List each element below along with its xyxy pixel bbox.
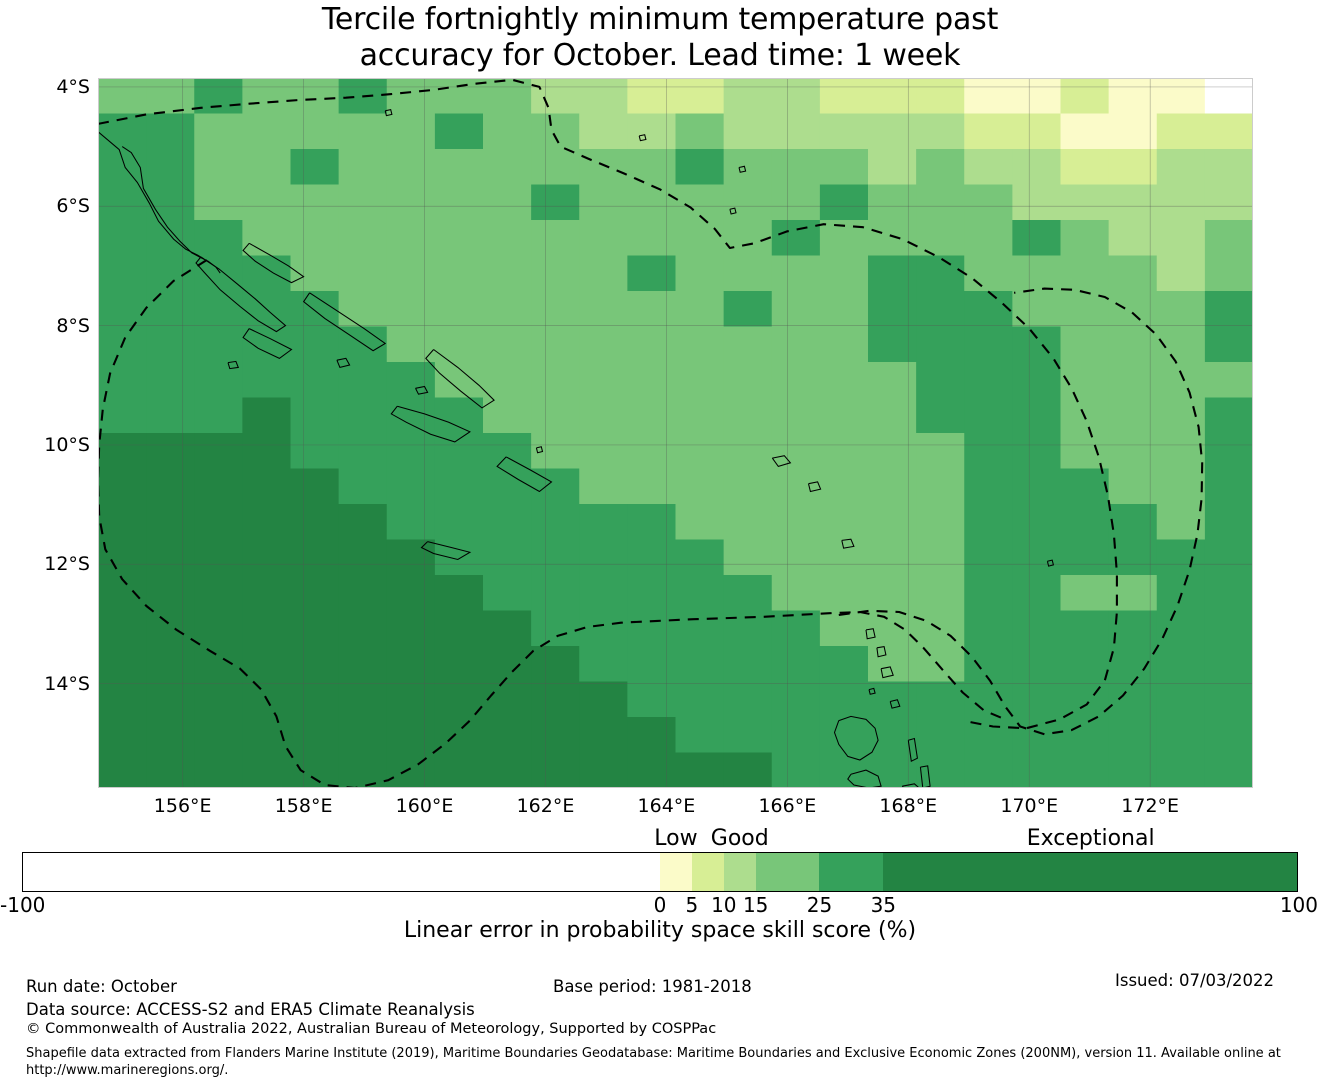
heatmap-cell xyxy=(435,185,484,221)
heatmap-cell xyxy=(868,753,917,789)
heatmap-cell xyxy=(146,646,195,682)
heatmap-cell xyxy=(1157,433,1206,469)
heatmap-cell xyxy=(146,504,195,540)
heatmap-cell xyxy=(916,114,965,150)
title-line-1: Tercile fortnightly minimum temperature … xyxy=(0,2,1320,38)
heatmap-cell xyxy=(579,78,628,114)
heatmap-cell xyxy=(772,327,821,363)
heatmap-cell xyxy=(435,611,484,647)
heatmap-cell xyxy=(579,185,628,221)
heatmap-cell xyxy=(435,291,484,327)
heatmap-cell xyxy=(242,540,291,576)
heatmap-cell xyxy=(531,433,580,469)
heatmap-cell xyxy=(435,717,484,753)
heatmap-cell xyxy=(531,327,580,363)
heatmap-cell xyxy=(242,327,291,363)
heatmap-cell xyxy=(676,682,725,718)
heatmap-cell xyxy=(387,149,436,185)
heatmap-cell xyxy=(339,220,388,256)
heatmap-cell xyxy=(98,398,147,434)
heatmap-cell xyxy=(1012,575,1061,611)
heatmap-cell xyxy=(531,220,580,256)
footer-base-period: Base period: 1981-2018 xyxy=(553,977,752,996)
heatmap-cell xyxy=(627,646,676,682)
heatmap-cell xyxy=(676,753,725,789)
heatmap-cell xyxy=(242,433,291,469)
heatmap-cell xyxy=(387,327,436,363)
colorbar-tick-label: 5 xyxy=(686,893,699,917)
heatmap-cell xyxy=(1012,611,1061,647)
heatmap-cell xyxy=(772,611,821,647)
heatmap-cell xyxy=(291,575,340,611)
footer-copyright: © Commonwealth of Australia 2022, Austra… xyxy=(26,1021,716,1037)
heatmap-cell xyxy=(724,291,773,327)
heatmap-cell xyxy=(1061,327,1110,363)
heatmap-cell xyxy=(916,504,965,540)
heatmap-cell xyxy=(676,220,725,256)
heatmap-cell xyxy=(194,114,243,150)
colorbar-segment xyxy=(692,853,724,891)
heatmap-cell xyxy=(1205,717,1253,753)
heatmap-cell xyxy=(242,185,291,221)
heatmap-cell xyxy=(483,327,532,363)
heatmap-cell xyxy=(291,540,340,576)
heatmap-cell xyxy=(291,398,340,434)
heatmap-cell xyxy=(772,362,821,398)
heatmap-cell xyxy=(146,753,195,789)
heatmap-cell xyxy=(339,433,388,469)
heatmap-cell xyxy=(483,185,532,221)
heatmap-cell xyxy=(483,646,532,682)
heatmap-cell xyxy=(820,256,869,292)
heatmap-cell xyxy=(194,256,243,292)
heatmap-cell xyxy=(435,149,484,185)
heatmap-cell xyxy=(146,540,195,576)
heatmap-cell xyxy=(724,540,773,576)
heatmap-cell xyxy=(1157,220,1206,256)
heatmap-cell xyxy=(483,504,532,540)
x-axis-tick-label: 168°E xyxy=(879,795,937,817)
colorbar-title: Linear error in probability space skill … xyxy=(0,918,1320,943)
heatmap-cell xyxy=(194,575,243,611)
heatmap-cell xyxy=(339,611,388,647)
colorbar-segment xyxy=(883,853,1297,891)
heatmap-cell xyxy=(724,256,773,292)
heatmap-cell xyxy=(98,433,147,469)
heatmap-cell xyxy=(387,717,436,753)
heatmap-cell xyxy=(772,149,821,185)
heatmap-cell xyxy=(1012,362,1061,398)
heatmap-cell xyxy=(1205,291,1253,327)
heatmap-cell xyxy=(772,504,821,540)
heatmap-cell xyxy=(868,433,917,469)
heatmap-cell xyxy=(868,398,917,434)
heatmap-cell xyxy=(772,540,821,576)
heatmap-cell xyxy=(676,433,725,469)
heatmap-cell xyxy=(387,220,436,256)
heatmap-cell xyxy=(676,362,725,398)
heatmap-cell xyxy=(820,78,869,114)
heatmap-cell xyxy=(1205,149,1253,185)
heatmap-cell xyxy=(339,717,388,753)
heatmap-cell xyxy=(772,291,821,327)
heatmap-cell xyxy=(964,327,1013,363)
heatmap-cell xyxy=(820,682,869,718)
heatmap-cell xyxy=(194,682,243,718)
heatmap-cell xyxy=(339,646,388,682)
heatmap-cell xyxy=(627,433,676,469)
heatmap-cell xyxy=(820,433,869,469)
heatmap-cell xyxy=(435,256,484,292)
heatmap-cell xyxy=(916,469,965,505)
heatmap-cell xyxy=(916,327,965,363)
heatmap-cell xyxy=(98,256,147,292)
x-axis-tick-label: 172°E xyxy=(1121,795,1179,817)
heatmap-cell xyxy=(483,78,532,114)
heatmap-cell xyxy=(146,327,195,363)
heatmap-cell xyxy=(820,469,869,505)
heatmap-cell xyxy=(387,185,436,221)
heatmap-cell xyxy=(964,291,1013,327)
heatmap-cell xyxy=(1205,256,1253,292)
heatmap-cell xyxy=(579,717,628,753)
heatmap-cell xyxy=(579,469,628,505)
heatmap-cell xyxy=(1205,433,1253,469)
heatmap-cell xyxy=(531,398,580,434)
heatmap-cell xyxy=(531,114,580,150)
colorbar-segment xyxy=(23,853,660,891)
heatmap-cell xyxy=(194,469,243,505)
heatmap-cell xyxy=(483,149,532,185)
heatmap-cell xyxy=(724,78,773,114)
heatmap-cell xyxy=(98,504,147,540)
heatmap-cell xyxy=(146,575,195,611)
heatmap-cell xyxy=(1061,646,1110,682)
heatmap-cell xyxy=(916,717,965,753)
heatmap-cell xyxy=(146,114,195,150)
heatmap-cell xyxy=(579,646,628,682)
heatmap-cell xyxy=(194,433,243,469)
heatmap-cell xyxy=(820,575,869,611)
heatmap-cell xyxy=(435,114,484,150)
heatmap-cell xyxy=(1157,114,1206,150)
colorbar[interactable] xyxy=(22,852,1298,892)
heatmap-cell xyxy=(146,398,195,434)
heatmap-cell xyxy=(964,114,1013,150)
heatmap-cell xyxy=(483,469,532,505)
heatmap-cell xyxy=(627,717,676,753)
heatmap-cell xyxy=(339,575,388,611)
heatmap-cell xyxy=(1061,256,1110,292)
heatmap-cell xyxy=(1012,185,1061,221)
heatmap-cell xyxy=(820,540,869,576)
heatmap-cell xyxy=(1205,575,1253,611)
heatmap-cell xyxy=(676,327,725,363)
y-axis-tick-label: 4°S xyxy=(56,76,90,98)
heatmap-cell xyxy=(194,398,243,434)
heatmap-cell xyxy=(531,149,580,185)
heatmap-cell xyxy=(916,682,965,718)
heatmap-cell xyxy=(1012,327,1061,363)
heatmap-cell xyxy=(676,469,725,505)
heatmap-cell xyxy=(916,185,965,221)
heatmap-cell xyxy=(242,114,291,150)
heatmap-cell xyxy=(676,291,725,327)
heatmap-cell xyxy=(868,469,917,505)
heatmap-cell xyxy=(387,540,436,576)
heatmap-cell xyxy=(339,753,388,789)
heatmap-cell xyxy=(1012,114,1061,150)
heatmap-cell xyxy=(724,469,773,505)
heatmap-cell xyxy=(146,362,195,398)
heatmap-cell xyxy=(964,469,1013,505)
heatmap-cell xyxy=(483,291,532,327)
heatmap-cell xyxy=(627,78,676,114)
footer-issued: Issued: 07/03/2022 xyxy=(1115,971,1274,990)
heatmap-cell xyxy=(291,256,340,292)
heatmap-cell xyxy=(242,504,291,540)
heatmap-cell xyxy=(98,682,147,718)
heatmap-cell xyxy=(98,78,147,114)
heatmap-cell xyxy=(916,291,965,327)
heatmap-cell xyxy=(1205,78,1253,114)
heatmap-cell xyxy=(291,469,340,505)
heatmap-cell xyxy=(146,185,195,221)
heatmap-cell xyxy=(724,220,773,256)
heatmap-cell xyxy=(291,646,340,682)
heatmap-cell xyxy=(1012,504,1061,540)
heatmap-cell xyxy=(339,398,388,434)
heatmap-cell xyxy=(1061,185,1110,221)
heatmap-cell xyxy=(98,291,147,327)
heatmap-cell xyxy=(98,753,147,789)
colorbar-quality-label: Low xyxy=(654,826,697,851)
heatmap-cell xyxy=(194,540,243,576)
x-axis-tick-label: 164°E xyxy=(638,795,696,817)
heatmap-cell xyxy=(1012,469,1061,505)
heatmap-cell xyxy=(483,540,532,576)
heatmap-cell xyxy=(724,433,773,469)
heatmap-cell xyxy=(483,575,532,611)
heatmap-cell xyxy=(1061,149,1110,185)
heatmap-cell xyxy=(627,220,676,256)
heatmap-cell xyxy=(868,291,917,327)
footer-run-date: Run date: October xyxy=(26,977,177,996)
heatmap-cell xyxy=(627,469,676,505)
heatmap-cell xyxy=(1012,291,1061,327)
heatmap-cell xyxy=(1157,682,1206,718)
heatmap-cell xyxy=(579,540,628,576)
heatmap-cell xyxy=(627,575,676,611)
heatmap-cell xyxy=(1012,682,1061,718)
heatmap-cell xyxy=(916,540,965,576)
heatmap-cell xyxy=(291,362,340,398)
heatmap-cell xyxy=(868,540,917,576)
heatmap-cell xyxy=(676,78,725,114)
heatmap-cell xyxy=(772,114,821,150)
heatmap-cell xyxy=(676,540,725,576)
heatmap-cell xyxy=(820,327,869,363)
heatmap-cell xyxy=(579,220,628,256)
heatmap-cell xyxy=(579,256,628,292)
heatmap-cell xyxy=(1012,398,1061,434)
heatmap-cell xyxy=(1012,149,1061,185)
heatmap-cell xyxy=(820,611,869,647)
heatmap-cell xyxy=(868,149,917,185)
heatmap-cell xyxy=(676,398,725,434)
heatmap-cell xyxy=(868,185,917,221)
heatmap-cell xyxy=(676,256,725,292)
x-axis-tick-label: 162°E xyxy=(517,795,575,817)
heatmap-cell xyxy=(916,646,965,682)
heatmap-cell xyxy=(1205,469,1253,505)
x-axis-tick-label: 170°E xyxy=(1000,795,1058,817)
heatmap-cell xyxy=(579,291,628,327)
y-axis-tick-label: 14°S xyxy=(44,673,90,695)
heatmap-svg xyxy=(98,78,1253,788)
heatmap-cell xyxy=(194,717,243,753)
heatmap-cell xyxy=(1061,717,1110,753)
heatmap-cell xyxy=(579,398,628,434)
heatmap-cell xyxy=(724,398,773,434)
heatmap-cell xyxy=(1061,753,1110,789)
heatmap-cell xyxy=(772,433,821,469)
heatmap-cell xyxy=(964,611,1013,647)
heatmap-cell xyxy=(387,611,436,647)
heatmap-cell xyxy=(242,220,291,256)
heatmap-cell xyxy=(387,575,436,611)
heatmap-cell xyxy=(435,469,484,505)
heatmap-cell xyxy=(531,682,580,718)
heatmap-cell xyxy=(98,611,147,647)
heatmap-cell xyxy=(242,717,291,753)
heatmap-cell xyxy=(242,398,291,434)
heatmap-cell xyxy=(435,220,484,256)
heatmap-cell xyxy=(242,646,291,682)
heatmap-cell xyxy=(483,717,532,753)
heatmap-cell xyxy=(194,149,243,185)
heatmap-cell xyxy=(531,753,580,789)
heatmap-cell xyxy=(483,362,532,398)
heatmap-cell xyxy=(291,717,340,753)
heatmap-cell xyxy=(964,682,1013,718)
heatmap-cell xyxy=(1061,362,1110,398)
colorbar-quality-label: Good xyxy=(711,826,769,851)
heatmap-cell xyxy=(1205,398,1253,434)
heatmap-cell xyxy=(579,575,628,611)
heatmap-cell xyxy=(868,611,917,647)
heatmap-cell xyxy=(916,753,965,789)
heatmap-cell xyxy=(868,78,917,114)
heatmap-cell xyxy=(387,646,436,682)
heatmap-cell xyxy=(1157,149,1206,185)
heatmap-cell xyxy=(531,469,580,505)
heatmap-cell xyxy=(1157,256,1206,292)
heatmap-cell xyxy=(772,469,821,505)
heatmap-cell xyxy=(146,682,195,718)
heatmap-cell xyxy=(435,327,484,363)
map-plot-area[interactable] xyxy=(98,78,1253,788)
heatmap-cell xyxy=(724,646,773,682)
y-axis-tick-label: 8°S xyxy=(56,315,90,337)
colorbar-segment xyxy=(756,853,820,891)
colorbar-wrapper[interactable] xyxy=(22,852,1298,892)
heatmap-cell xyxy=(291,78,340,114)
heatmap-cell xyxy=(627,291,676,327)
heatmap-cell xyxy=(579,753,628,789)
heatmap-cell xyxy=(724,504,773,540)
heatmap-cell xyxy=(868,256,917,292)
heatmap-cell xyxy=(483,611,532,647)
heatmap-cells xyxy=(98,78,1253,788)
heatmap-cell xyxy=(627,682,676,718)
heatmap-cell xyxy=(146,256,195,292)
heatmap-cell xyxy=(964,149,1013,185)
colorbar-tick-label: 15 xyxy=(743,893,768,917)
heatmap-cell xyxy=(868,327,917,363)
heatmap-cell xyxy=(868,504,917,540)
heatmap-cell xyxy=(916,149,965,185)
heatmap-cell xyxy=(1061,114,1110,150)
heatmap-cell xyxy=(627,327,676,363)
heatmap-cell xyxy=(1205,362,1253,398)
heatmap-cell xyxy=(483,682,532,718)
heatmap-cell xyxy=(387,78,436,114)
heatmap-cell xyxy=(676,575,725,611)
heatmap-cell xyxy=(916,433,965,469)
heatmap-cell xyxy=(242,753,291,789)
heatmap-cell xyxy=(1205,753,1253,789)
heatmap-cell xyxy=(291,753,340,789)
heatmap-cell xyxy=(724,327,773,363)
heatmap-cell xyxy=(531,78,580,114)
heatmap-cell xyxy=(435,646,484,682)
heatmap-cell xyxy=(98,717,147,753)
heatmap-cell xyxy=(820,149,869,185)
x-axis-tick-label: 156°E xyxy=(154,795,212,817)
heatmap-cell xyxy=(676,717,725,753)
heatmap-cell xyxy=(291,611,340,647)
heatmap-cell xyxy=(916,220,965,256)
heatmap-cell xyxy=(627,362,676,398)
heatmap-cell xyxy=(820,717,869,753)
heatmap-cell xyxy=(579,149,628,185)
heatmap-cell xyxy=(964,646,1013,682)
heatmap-cell xyxy=(483,220,532,256)
heatmap-cell xyxy=(435,753,484,789)
heatmap-cell xyxy=(242,149,291,185)
heatmap-cell xyxy=(483,114,532,150)
heatmap-cell xyxy=(579,433,628,469)
heatmap-cell xyxy=(1012,433,1061,469)
heatmap-cell xyxy=(146,149,195,185)
heatmap-cell xyxy=(531,256,580,292)
heatmap-cell xyxy=(868,362,917,398)
heatmap-cell xyxy=(98,185,147,221)
heatmap-cell xyxy=(291,433,340,469)
heatmap-cell xyxy=(772,575,821,611)
heatmap-cell xyxy=(242,362,291,398)
heatmap-cell xyxy=(531,185,580,221)
x-axis-tick-label: 160°E xyxy=(396,795,454,817)
heatmap-cell xyxy=(868,646,917,682)
colorbar-segment xyxy=(724,853,756,891)
heatmap-cell xyxy=(579,362,628,398)
heatmap-cell xyxy=(772,753,821,789)
x-axis-tick-label: 166°E xyxy=(758,795,816,817)
heatmap-cell xyxy=(820,185,869,221)
heatmap-cell xyxy=(435,362,484,398)
